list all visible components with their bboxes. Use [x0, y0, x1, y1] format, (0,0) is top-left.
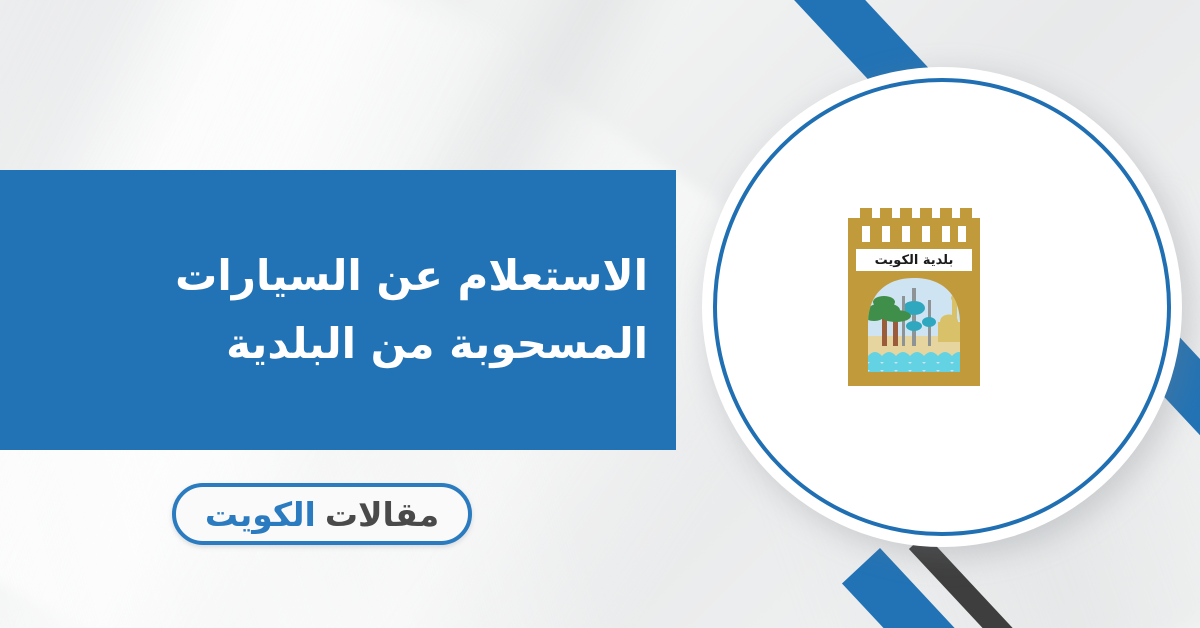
page-title: الاستعلام عن السيارات المسحوبة من البلدي…: [48, 242, 648, 378]
emblem-caption: بلدية الكويت: [875, 254, 954, 267]
logo-word-two: الكويت: [205, 498, 316, 531]
logo-word-one: مقالات: [325, 498, 439, 531]
headline-banner: الاستعلام عن السيارات المسحوبة من البلدي…: [0, 170, 676, 450]
poster-canvas: الاستعلام عن السيارات المسحوبة من البلدي…: [0, 0, 1200, 628]
site-logo: مقالات الكويت: [172, 483, 472, 545]
kuwait-municipality-emblem: بلدية الكويت: [840, 196, 988, 396]
emblem-caption-band: بلدية الكويت: [856, 249, 972, 271]
